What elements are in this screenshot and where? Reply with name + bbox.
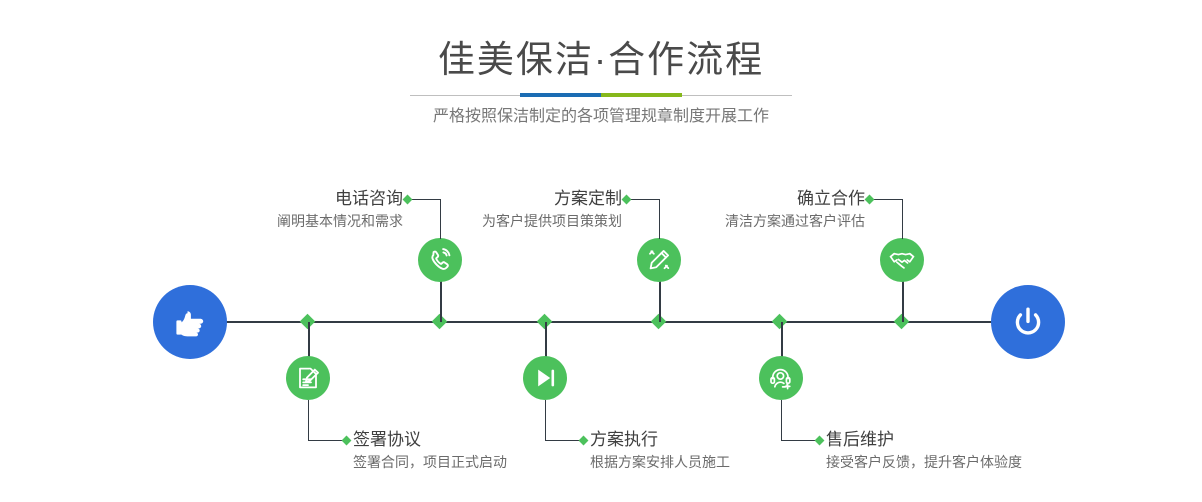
step-label: 售后维护 接受客户反馈，提升客户体验度 [826,428,1176,473]
step-icon-bubble [286,356,330,400]
headset-support-icon [767,364,795,392]
connector-tip [865,195,875,205]
timeline-end-node [991,285,1065,359]
header: 佳美保洁·合作流程 严格按照保洁制定的各项管理规章制度开展工作 [0,0,1202,150]
step-icon-bubble [637,238,681,282]
timeline-start-node [153,285,227,359]
step-desc: 清洁方案通过客户评估 [503,210,865,232]
step-desc: 接受客户反馈，提升客户体验度 [826,451,1176,473]
step-icon-bubble [523,356,567,400]
process-timeline: 电话咨询 阐明基本情况和需求 [0,150,1202,502]
document-pencil-icon [294,364,322,392]
title-divider [410,93,792,97]
cooperation-process-infographic: 佳美保洁·合作流程 严格按照保洁制定的各项管理规章制度开展工作 [0,0,1202,502]
step-title: 售后维护 [826,428,1176,451]
step-icon-bubble [759,356,803,400]
divider-segment-green [601,93,682,97]
divider-segment-blue [520,93,601,97]
pencil-edit-icon [645,246,673,274]
step-icon-bubble [880,238,924,282]
pointing-hand-icon [169,301,211,343]
phone-ringing-icon [426,246,454,274]
connector-tip [342,436,352,446]
axis-node-marker [772,314,788,330]
page-subtitle: 严格按照保洁制定的各项管理规章制度开展工作 [0,105,1202,129]
step-title: 确立合作 [503,187,865,210]
handshake-icon [888,246,916,274]
page-title: 佳美保洁·合作流程 [0,36,1202,84]
step-icon-bubble [418,238,462,282]
power-button-icon [1007,301,1049,343]
timeline-axis [160,321,1042,323]
step-label: 确立合作 清洁方案通过客户评估 [503,187,865,232]
play-execute-icon [531,364,559,392]
